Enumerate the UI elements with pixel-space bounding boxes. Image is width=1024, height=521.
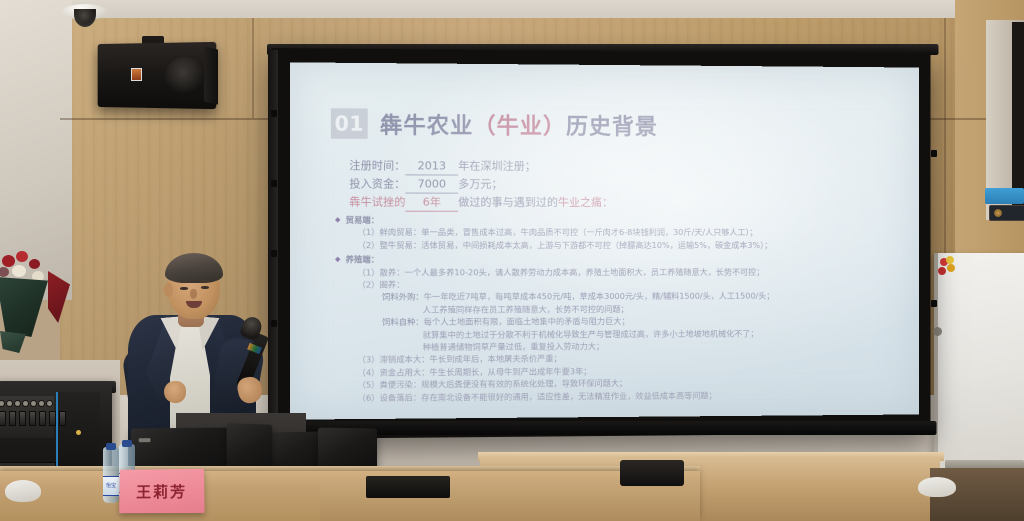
speaker-cone — [165, 57, 205, 95]
list-item: （2）整牛贸易：活体贸易，中间损耗成本太高，上游与下游都不可控（掉膘高达10%，… — [357, 239, 918, 252]
computer-mouse[interactable] — [918, 477, 956, 497]
blue-exit-sign — [985, 188, 1024, 204]
mixer-fader[interactable] — [49, 411, 56, 426]
meta-label: 投入资金： — [349, 177, 405, 190]
computer-mouse[interactable] — [5, 480, 41, 502]
audio-mixer-panel[interactable] — [0, 396, 54, 438]
name-card: 王莉芳 — [119, 469, 204, 513]
power-adapter-box — [366, 476, 450, 498]
slide-meta-block: 注册时间：2013年在深圳注册； 投入资金：7000多万元； 犇牛试挫的6年做过… — [349, 157, 613, 212]
mixer-knob[interactable] — [31, 401, 36, 406]
mixer-knob[interactable] — [7, 401, 12, 406]
flower-bud-white — [12, 265, 26, 277]
mixer-fader[interactable] — [39, 411, 46, 426]
title-part2: 历史背景 — [566, 115, 658, 140]
bouquet-ribbon — [0, 331, 26, 353]
presenter-nose — [190, 289, 197, 299]
projected-slide: 01 犇牛农业（牛业）历史背景 注册时间：2013年在深圳注册； 投入资金：70… — [290, 62, 919, 419]
mixer-knob[interactable] — [0, 401, 4, 406]
meta-label: 犇牛试挫的 — [349, 195, 405, 208]
section-heading-trade: ◆ 贸易端： — [335, 214, 919, 227]
mixer-knob[interactable] — [23, 401, 28, 406]
slide-body-list: ◆ 贸易端： （1）鲜肉贸易：单一品类，冒售成本过高，牛肉品质不可控（一斤肉才6… — [335, 212, 919, 405]
meta-label: 注册时间： — [349, 159, 405, 172]
mixer-knob[interactable] — [15, 401, 20, 406]
screen-tension-clip — [271, 110, 277, 117]
mixer-fader[interactable] — [19, 411, 26, 426]
presentation-room-photo: 01 犇牛农业（牛业）历史背景 注册时间：2013年在深圳注册； 投入资金：70… — [0, 0, 1024, 521]
title-part1: 犇牛农业 — [380, 114, 473, 140]
slide-title-row: 01 犇牛农业（牛业）历史背景 — [331, 107, 658, 141]
wall-plaque — [989, 205, 1024, 221]
door-gap — [1012, 22, 1024, 212]
flower-bud — [0, 267, 9, 277]
meta-row-capital: 投入资金：7000多万元； — [349, 175, 613, 194]
meta-suffix: 年在深圳注册； — [458, 159, 536, 172]
laptop-badge — [139, 438, 151, 442]
mixer-fader-row[interactable] — [0, 411, 66, 426]
bouquet-wrap-cone — [0, 277, 48, 337]
magnet-icon — [947, 264, 955, 272]
sub-block-line: 牛一年吃近7吨草，每吨草成本450元/吨，草成本3000元/头，精/辅料1500… — [424, 291, 775, 302]
jbl-logo-icon — [131, 68, 142, 81]
presenter-ear — [164, 283, 173, 297]
sub-block-label: 饲料外购： — [382, 292, 424, 302]
magnet-icon — [946, 256, 954, 264]
wall-panel-seam-vertical — [252, 18, 254, 118]
meta-row-register: 注册时间：2013年在深圳注册； — [349, 157, 613, 176]
whiteboard — [934, 253, 1024, 468]
slide-content: 01 犇牛农业（牛业）历史背景 注册时间：2013年在深圳注册； 投入资金：70… — [290, 62, 919, 419]
mixer-fader[interactable] — [29, 411, 36, 426]
section-heading-breeding: ◆ 养殖端： — [335, 253, 919, 266]
sub-block-label: 饲料自种： — [382, 317, 424, 327]
meta-value: 2013 — [405, 157, 458, 175]
meta-value: 6年 — [405, 194, 458, 212]
screen-tension-clip — [271, 180, 277, 187]
bottle-cap — [106, 443, 116, 450]
presenter-eye — [180, 287, 188, 290]
meta-suffix: 多万元； — [458, 178, 502, 191]
section-heading-text: 养殖端： — [346, 253, 379, 266]
mixer-knob[interactable] — [39, 401, 44, 406]
screen-tension-clip — [931, 300, 937, 307]
magnet-icon — [938, 267, 946, 275]
rack-status-led — [76, 430, 81, 435]
section-number-badge: 01 — [331, 108, 368, 139]
diamond-bullet-icon: ◆ — [335, 253, 341, 265]
flower-bud — [2, 255, 15, 267]
speaker-side-panel — [204, 46, 218, 104]
mixer-knob[interactable] — [47, 401, 52, 406]
section-heading-text: 贸易端： — [346, 214, 379, 227]
mixer-fader[interactable] — [9, 411, 16, 426]
meta-value: 7000 — [405, 175, 458, 193]
mixer-knob-row[interactable] — [0, 401, 52, 406]
bottle-cap — [122, 440, 132, 447]
meta-row-years: 犇牛试挫的6年做过的事与遇到过的牛业之痛： — [349, 193, 613, 212]
sub-block-line: 每个人土地面积有限，面临土地集中的矛盾与阻力巨大； — [424, 316, 630, 327]
title-accent: （牛业） — [473, 114, 566, 140]
flower-bouquet — [0, 249, 52, 344]
page-title: 犇牛农业（牛业）历史背景 — [380, 108, 658, 142]
meta-tail: 牛业之痛： — [558, 196, 613, 209]
list-item: （1）鲜肉贸易：单一品类，冒售成本过高，牛肉品质不可控（一斤肉才6-8块钱利润，… — [357, 226, 918, 239]
presenter-eyebrow — [200, 280, 210, 282]
name-card-text: 王莉芳 — [136, 480, 187, 501]
bottle-label: 怡宝 — [103, 476, 119, 496]
presenter-eyebrow — [180, 281, 190, 283]
list-item: （1）散养：一个人最多养10-20头，请人散养劳动力成本高，养殖土地面积大，员工… — [357, 265, 918, 278]
presenter-eye — [201, 286, 209, 289]
diamond-bullet-icon: ◆ — [335, 214, 341, 226]
presenter-left-hand — [164, 381, 186, 403]
flower-bud — [16, 251, 28, 262]
meta-suffix: 做过的事与遇到过的 — [458, 196, 558, 209]
power-adapter-box — [620, 460, 684, 486]
whiteboard-adjust-knob — [933, 327, 942, 336]
mixer-fader[interactable] — [0, 411, 6, 426]
mixer-fader[interactable] — [59, 411, 66, 426]
screen-tension-clip — [931, 150, 937, 157]
presenter-hair — [165, 253, 223, 283]
flower-bud — [29, 259, 40, 269]
